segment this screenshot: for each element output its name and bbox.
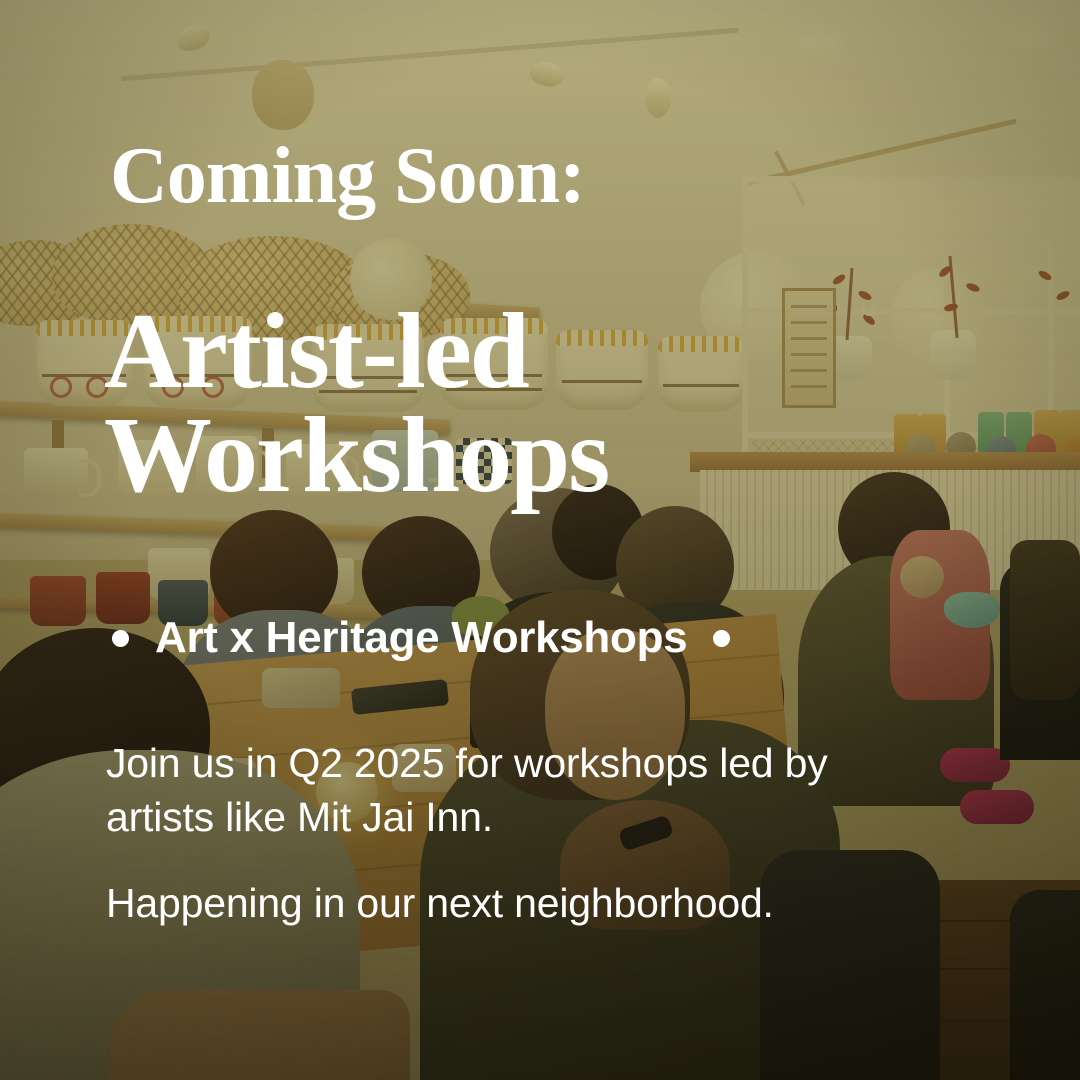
bullet-dot-right-icon bbox=[713, 630, 730, 647]
headline: Artist-led Workshops bbox=[104, 300, 608, 507]
kicker-text: Coming Soon: bbox=[110, 136, 585, 216]
paragraph-1: Join us in Q2 2025 for workshops led by … bbox=[106, 736, 936, 844]
headline-line-2: Workshops bbox=[104, 404, 608, 508]
text-overlay: Coming Soon: Artist-led Workshops Art x … bbox=[0, 0, 1080, 1080]
tagline-text: Art x Heritage Workshops bbox=[155, 616, 687, 660]
body-copy: Join us in Q2 2025 for workshops led by … bbox=[106, 736, 936, 930]
paragraph-2: Happening in our next neighborhood. bbox=[106, 876, 936, 930]
headline-line-1: Artist-led bbox=[104, 300, 608, 404]
bullet-dot-left-icon bbox=[112, 630, 129, 647]
tagline-row: Art x Heritage Workshops bbox=[112, 616, 730, 660]
social-post-canvas: Coming Soon: Artist-led Workshops Art x … bbox=[0, 0, 1080, 1080]
